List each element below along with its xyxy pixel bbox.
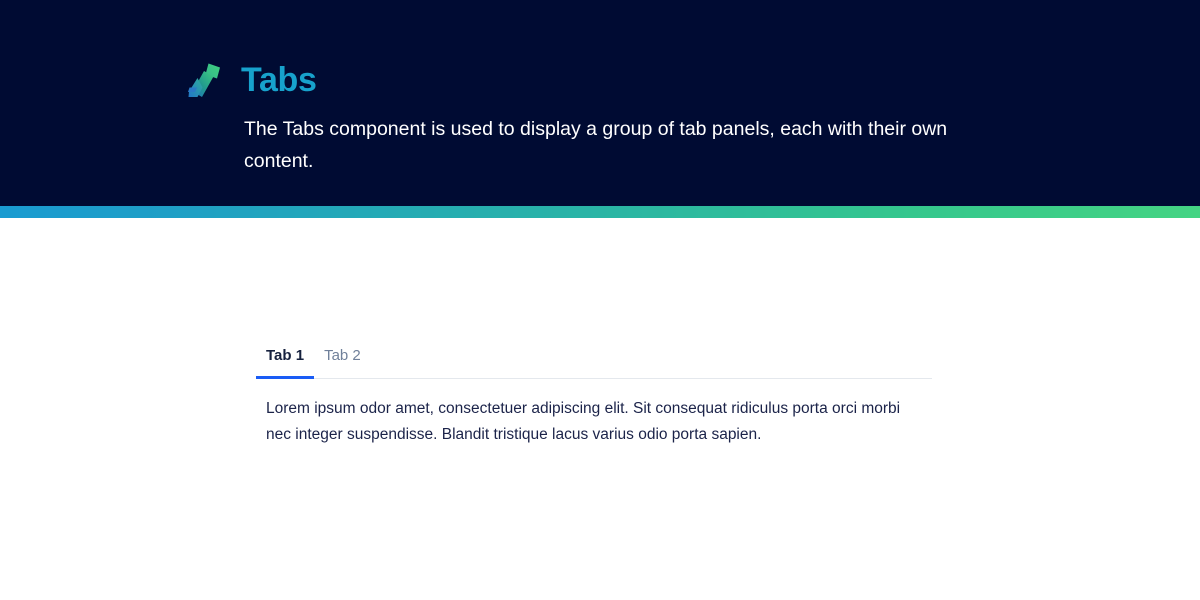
tabs-widget: Tab 1 Tab 2 Lorem ipsum odor amet, conse… xyxy=(256,340,932,447)
arrow-a-logo-icon xyxy=(184,58,228,102)
page-title: Tabs xyxy=(241,63,317,97)
tab-list: Tab 1 Tab 2 xyxy=(256,340,932,379)
brand-row: Tabs xyxy=(184,56,1160,104)
page-header: Tabs The Tabs component is used to displ… xyxy=(0,0,1200,206)
tab-2[interactable]: Tab 2 xyxy=(314,347,371,379)
main-content: Tab 1 Tab 2 Lorem ipsum odor amet, conse… xyxy=(0,218,1200,600)
page-description: The Tabs component is used to display a … xyxy=(244,113,1019,177)
header-content: Tabs The Tabs component is used to displ… xyxy=(184,56,1160,177)
tab-panel-text: Lorem ipsum odor amet, consectetuer adip… xyxy=(266,396,916,447)
gradient-divider xyxy=(0,206,1200,218)
tab-panel-1: Lorem ipsum odor amet, consectetuer adip… xyxy=(256,379,932,447)
tab-1[interactable]: Tab 1 xyxy=(256,347,314,379)
